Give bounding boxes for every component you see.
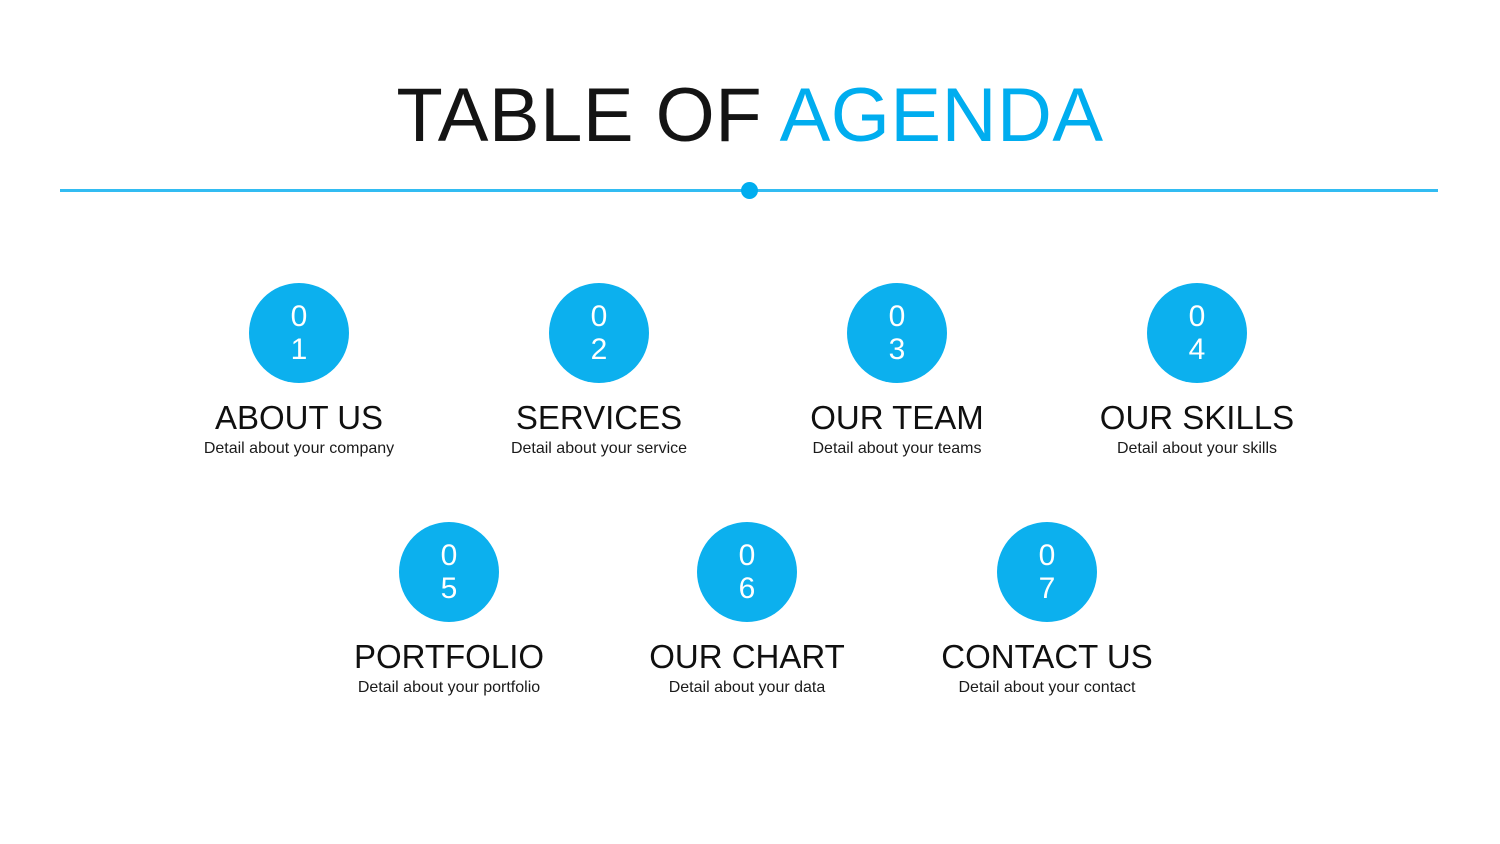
agenda-item-description: Detail about your contact <box>897 678 1197 698</box>
agenda-item-description: Detail about your portfolio <box>299 678 599 698</box>
agenda-item-our-chart[interactable]: 0 6 OUR CHART Detail about your data <box>597 522 897 698</box>
badge-digit-top: 0 <box>1189 300 1206 333</box>
divider-center-dot <box>741 182 758 199</box>
badge-digit-bottom: 2 <box>591 333 608 366</box>
number-badge-04: 0 4 <box>1147 283 1247 383</box>
badge-digit-bottom: 5 <box>441 572 458 605</box>
agenda-item-description: Detail about your service <box>449 439 749 459</box>
agenda-item-title: ABOUT US <box>149 399 449 437</box>
agenda-item-our-skills[interactable]: 0 4 OUR SKILLS Detail about your skills <box>1047 283 1347 459</box>
agenda-item-portfolio[interactable]: 0 5 PORTFOLIO Detail about your portfoli… <box>299 522 599 698</box>
title-accent-part: AGENDA <box>780 73 1104 158</box>
agenda-item-description: Detail about your data <box>597 678 897 698</box>
badge-digit-top: 0 <box>739 539 756 572</box>
agenda-item-title: PORTFOLIO <box>299 638 599 676</box>
agenda-row-1: 0 1 ABOUT US Detail about your company 0… <box>0 283 1500 503</box>
agenda-item-title: SERVICES <box>449 399 749 437</box>
badge-digit-top: 0 <box>1039 539 1056 572</box>
agenda-item-title: OUR SKILLS <box>1047 399 1347 437</box>
agenda-item-title: OUR CHART <box>597 638 897 676</box>
badge-digit-top: 0 <box>441 539 458 572</box>
badge-digit-top: 0 <box>591 300 608 333</box>
badge-digit-bottom: 1 <box>291 333 308 366</box>
title-plain-part: TABLE OF <box>396 73 779 158</box>
agenda-item-title: CONTACT US <box>897 638 1197 676</box>
agenda-item-services[interactable]: 0 2 SERVICES Detail about your service <box>449 283 749 459</box>
badge-digit-bottom: 6 <box>739 572 756 605</box>
number-badge-03: 0 3 <box>847 283 947 383</box>
agenda-item-description: Detail about your teams <box>747 439 1047 459</box>
badge-digit-top: 0 <box>889 300 906 333</box>
agenda-row-2: 0 5 PORTFOLIO Detail about your portfoli… <box>0 522 1500 742</box>
agenda-item-title: OUR TEAM <box>747 399 1047 437</box>
agenda-item-about-us[interactable]: 0 1 ABOUT US Detail about your company <box>149 283 449 459</box>
agenda-item-description: Detail about your skills <box>1047 439 1347 459</box>
title-text: TABLE OF AGENDA <box>0 78 1500 154</box>
page-title: TABLE OF AGENDA <box>0 78 1500 154</box>
badge-digit-bottom: 4 <box>1189 333 1206 366</box>
badge-digit-bottom: 7 <box>1039 572 1056 605</box>
badge-digit-bottom: 3 <box>889 333 906 366</box>
agenda-item-our-team[interactable]: 0 3 OUR TEAM Detail about your teams <box>747 283 1047 459</box>
title-divider <box>60 182 1438 200</box>
agenda-slide: TABLE OF AGENDA 0 1 ABOUT US Detail abou… <box>0 0 1500 844</box>
number-badge-01: 0 1 <box>249 283 349 383</box>
badge-digit-top: 0 <box>291 300 308 333</box>
number-badge-02: 0 2 <box>549 283 649 383</box>
number-badge-07: 0 7 <box>997 522 1097 622</box>
number-badge-06: 0 6 <box>697 522 797 622</box>
number-badge-05: 0 5 <box>399 522 499 622</box>
agenda-item-contact-us[interactable]: 0 7 CONTACT US Detail about your contact <box>897 522 1197 698</box>
agenda-item-description: Detail about your company <box>149 439 449 459</box>
